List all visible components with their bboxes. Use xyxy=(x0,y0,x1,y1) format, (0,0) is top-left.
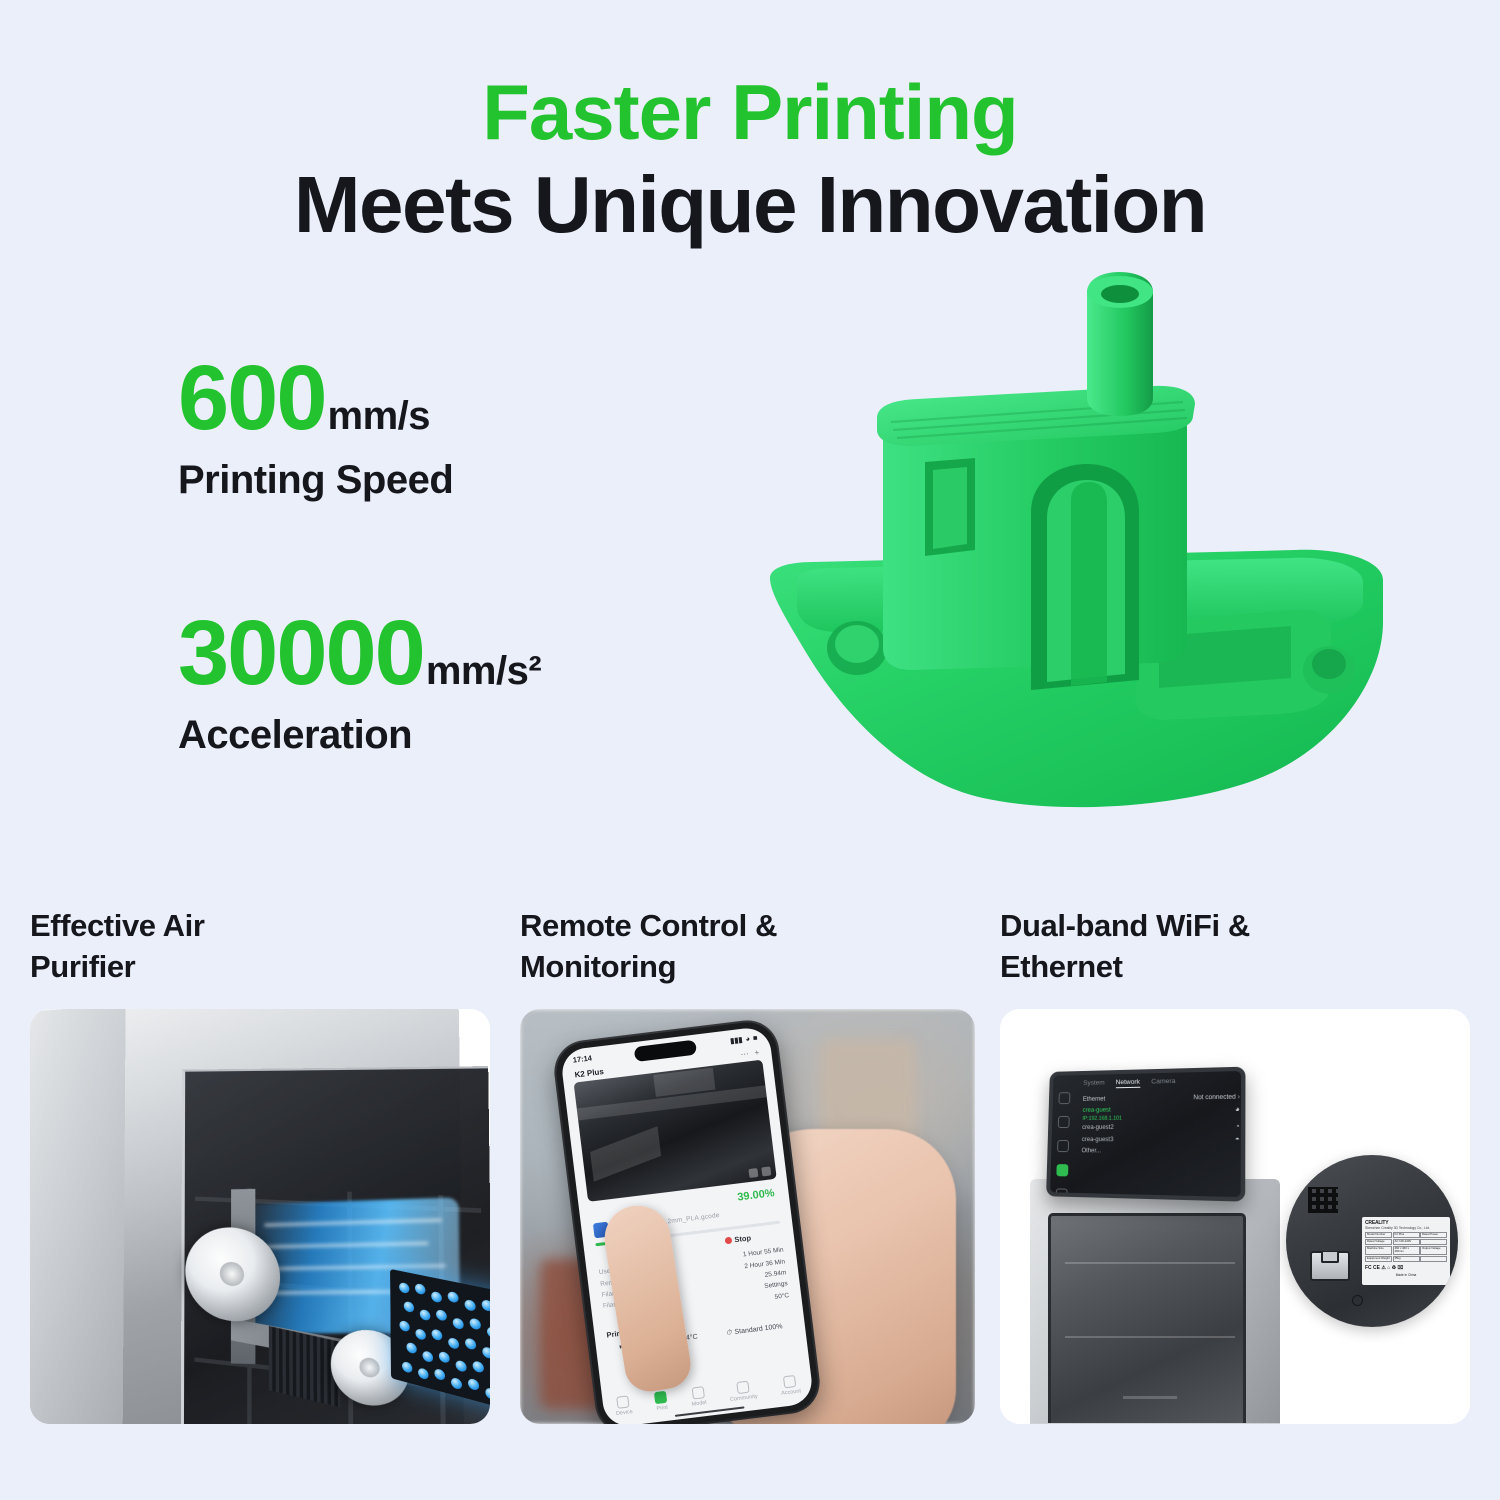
label-field: Machine Size xyxy=(1365,1246,1392,1256)
stat-unit: mm/s xyxy=(328,394,431,439)
feature-remote-control: Remote Control & Monitoring 17:14 ▮▮▮ ◕ … xyxy=(520,905,980,1424)
page-headline: Faster Printing Meets Unique Innovation xyxy=(0,72,1500,249)
touchscreen-ui: System Network Camera Ethernet xyxy=(1055,1076,1235,1191)
feature-title-line-1: Effective Air xyxy=(30,905,490,946)
wifi-full-icon: ◕ xyxy=(1235,1106,1240,1114)
benchy-bollard-1-hole xyxy=(1312,649,1346,679)
benchy-stack-hole xyxy=(1101,285,1139,303)
files-icon[interactable] xyxy=(1057,1140,1069,1152)
battery-icon: ■ xyxy=(752,1033,758,1042)
ethernet-label: Ethernet xyxy=(1083,1097,1106,1103)
stat-label: Acceleration xyxy=(178,713,738,758)
screw-icon xyxy=(1352,1295,1363,1306)
feature-title: Effective Air Purifier xyxy=(30,905,490,989)
network-list: Ethernet Not connected › crea-guest ◕ IP… xyxy=(1081,1092,1239,1158)
device-row-icons: ⋯ + xyxy=(740,1048,760,1059)
product-label: CREALITY Shenzhen Creality 3D Technology… xyxy=(1362,1217,1450,1285)
speed-icon: ⏱ xyxy=(726,1329,732,1338)
speed-mode: Standard 100% xyxy=(734,1324,783,1337)
feature-image-card: System Network Camera Ethernet xyxy=(1000,1009,1470,1424)
stat-printing-speed: 600 mm/s Printing Speed xyxy=(178,352,738,503)
printer-side-panel xyxy=(30,1009,126,1424)
label-company: Shenzhen Creality 3D Technology Co., Ltd… xyxy=(1365,1226,1447,1230)
nav-model[interactable]: Model xyxy=(690,1386,707,1408)
model-icon xyxy=(691,1386,704,1399)
more-icon[interactable]: ⋯ xyxy=(740,1049,749,1059)
hero-image-3d-benchy xyxy=(735,250,1435,840)
label-field: K2 Plus xyxy=(1393,1232,1420,1238)
benchy-arch-post xyxy=(1071,482,1107,686)
label-field xyxy=(1420,1256,1447,1262)
stat-label: Printing Speed xyxy=(178,458,738,503)
settings-link[interactable]: Settings xyxy=(764,1280,788,1290)
stop-label: Stop xyxy=(734,1233,752,1244)
printer-base xyxy=(1030,1423,1280,1424)
nav-community[interactable]: Community xyxy=(728,1380,758,1403)
status-icons: ▮▮▮ ◕ ■ xyxy=(730,1033,758,1045)
chamber-temp-spacer xyxy=(604,1314,605,1321)
add-icon[interactable]: + xyxy=(754,1048,760,1058)
stop-button[interactable]: Stop xyxy=(724,1233,752,1245)
vent-icon xyxy=(1308,1187,1338,1213)
feature-title-line-1: Dual-band WiFi & xyxy=(1000,905,1460,946)
touchscreen-tabs: System Network Camera xyxy=(1058,1076,1236,1089)
camera-feed[interactable] xyxy=(574,1060,777,1202)
feature-title-line-2: Purifier xyxy=(30,946,490,987)
benchy-window-inner xyxy=(933,467,967,549)
tab-camera[interactable]: Camera xyxy=(1151,1078,1175,1088)
stat-value: 25.94m xyxy=(764,1269,786,1279)
label-field: AC 100-240V xyxy=(1393,1239,1420,1245)
touchscreen-rail xyxy=(1056,1092,1071,1201)
feature-title-line-2: Monitoring xyxy=(520,946,980,987)
nav-label: Device xyxy=(616,1409,633,1417)
nav-label: Community xyxy=(730,1394,758,1403)
certification-marks: FC CE ⚠ ⌂ ♻ ⌧ xyxy=(1365,1265,1447,1271)
signal-icon: ▮▮▮ xyxy=(730,1034,743,1044)
account-icon xyxy=(783,1375,796,1388)
camera-controls[interactable] xyxy=(748,1166,771,1178)
tab-network[interactable]: Network xyxy=(1116,1079,1140,1089)
headline-line-2: Meets Unique Innovation xyxy=(0,160,1500,250)
status-icon[interactable] xyxy=(1056,1164,1068,1176)
device-icon xyxy=(616,1395,629,1408)
ethernet-port-inset: CREALITY Shenzhen Creality 3D Technology… xyxy=(1286,1155,1458,1327)
community-icon xyxy=(736,1381,749,1394)
ssid: Other... xyxy=(1081,1148,1101,1154)
nav-label: Print xyxy=(656,1405,668,1412)
label-field: Rated Voltage xyxy=(1365,1239,1392,1245)
printer-body xyxy=(30,1009,465,1424)
network-row[interactable]: crea-guest2 ◔ xyxy=(1082,1121,1240,1133)
label-field: Model Number xyxy=(1365,1232,1392,1238)
chamber-temp-value: 50°C xyxy=(774,1292,789,1301)
feature-title: Remote Control & Monitoring xyxy=(520,905,980,989)
wifi-mid-icon: ◔ xyxy=(1235,1124,1240,1132)
nav-account[interactable]: Account xyxy=(779,1374,801,1396)
feature-image-card: 17:14 ▮▮▮ ◕ ■ K2 Plus ⋯ + xyxy=(520,1009,975,1424)
nav-device[interactable]: Device xyxy=(614,1395,633,1417)
stat-acceleration: 30000 mm/s² Acceleration xyxy=(178,607,738,758)
feature-cards: Effective Air Purifier xyxy=(0,905,1500,1445)
label-spec-grid: Model Number K2 Plus Rated Power Rated V… xyxy=(1365,1232,1447,1262)
wifi-icon: ◕ xyxy=(745,1033,751,1042)
network-row[interactable]: crea-guest3 ◓ xyxy=(1082,1134,1240,1147)
printer-body xyxy=(1030,1179,1280,1424)
feature-title-line-1: Remote Control & xyxy=(520,905,980,946)
stat-value: 600 xyxy=(178,352,326,444)
nav-label: Account xyxy=(781,1388,801,1396)
status-time: 17:14 xyxy=(572,1053,592,1064)
ssid: crea-guest3 xyxy=(1082,1137,1114,1143)
rj45-ethernet-port xyxy=(1310,1251,1350,1281)
ethernet-status: Not connected › xyxy=(1193,1095,1240,1102)
feature-air-purifier: Effective Air Purifier xyxy=(30,905,490,1424)
feature-title: Dual-band WiFi & Ethernet xyxy=(1000,905,1460,989)
nav-label: Model xyxy=(691,1400,707,1408)
nav-print[interactable]: Print xyxy=(654,1391,668,1412)
wifi-low-icon: ◓ xyxy=(1235,1136,1240,1144)
ssid: crea-guest2 xyxy=(1082,1125,1114,1131)
ssid: crea-guest xyxy=(1082,1108,1110,1114)
stat-value: 30000 xyxy=(178,607,424,699)
made-in-text: Made in China xyxy=(1365,1273,1447,1277)
feature-title-line-2: Ethernet xyxy=(1000,946,1460,987)
home-icon[interactable] xyxy=(1058,1092,1070,1104)
printer-touchscreen[interactable]: System Network Camera Ethernet xyxy=(1046,1067,1245,1202)
headline-line-1: Faster Printing xyxy=(0,72,1500,154)
stat-unit: mm/s² xyxy=(426,649,541,694)
label-field: 35kg xyxy=(1393,1256,1420,1262)
feature-image-card xyxy=(30,1009,490,1424)
tab-system[interactable]: System xyxy=(1083,1079,1105,1088)
spec-stats: 600 mm/s Printing Speed 30000 mm/s² Acce… xyxy=(178,352,738,862)
stop-icon xyxy=(724,1237,732,1245)
chevron-right-icon: › xyxy=(1238,1095,1240,1101)
label-field xyxy=(1420,1239,1447,1245)
benchy-porthole-inner xyxy=(835,625,879,663)
label-field: 460 x 460 x 460mm xyxy=(1393,1246,1420,1256)
benchy-boat-icon xyxy=(735,250,1435,840)
print-icon xyxy=(654,1391,667,1404)
tune-icon[interactable] xyxy=(1058,1116,1070,1128)
device-name: K2 Plus xyxy=(574,1067,604,1080)
label-field: Rated Power xyxy=(1420,1232,1447,1238)
label-field: Output Voltage xyxy=(1420,1246,1447,1256)
feature-wifi-ethernet: Dual-band WiFi & Ethernet System Network xyxy=(1000,905,1460,1424)
network-row-other[interactable]: Other... xyxy=(1081,1146,1239,1158)
printer-door xyxy=(1048,1213,1246,1424)
label-field: Equipment Weight xyxy=(1365,1256,1392,1262)
